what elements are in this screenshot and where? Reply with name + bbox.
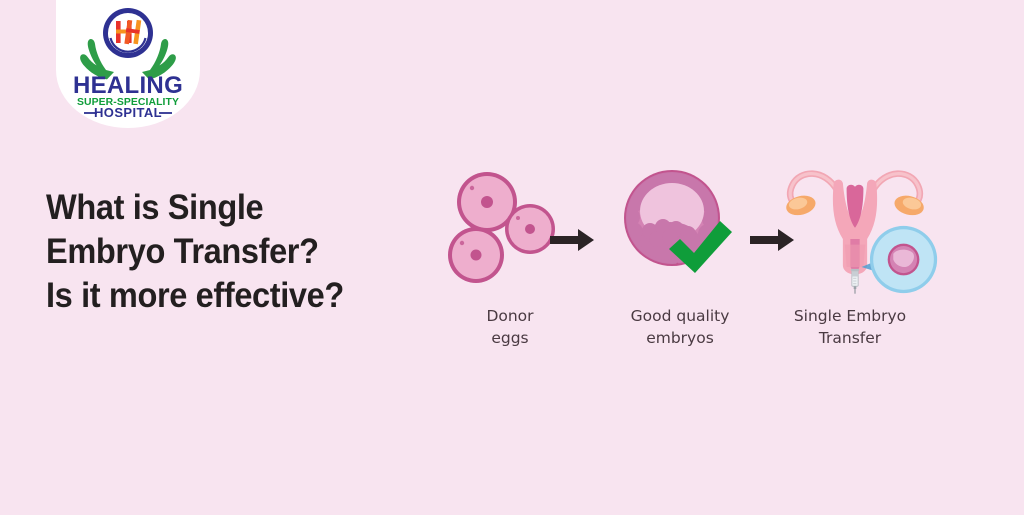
caption-line-2: embryos (600, 327, 760, 349)
process-illustration: Donor eggs (420, 155, 980, 365)
banner-root: HEALING SUPER-SPECIALITY HOSPITAL What i… (0, 0, 1024, 515)
caption-line-1: Single Embryo (770, 305, 930, 327)
headline-line-2: Embryo Transfer? (46, 230, 418, 274)
syringe-icon (851, 269, 859, 294)
stage-good-quality-embryos: Good quality embryos (600, 155, 760, 365)
uterus-syringe-icon (770, 155, 940, 295)
caption-line-2: Transfer (770, 327, 930, 349)
hospital-logo: HEALING SUPER-SPECIALITY HOSPITAL (56, 0, 200, 118)
logo-title: HEALING (73, 72, 183, 99)
caption-line-2: eggs (430, 327, 590, 349)
stage-donor-eggs: Donor eggs (430, 155, 590, 365)
caption-good-quality-embryos: Good quality embryos (600, 305, 760, 349)
arrow-right-icon (548, 223, 596, 257)
caption-single-embryo-transfer: Single Embryo Transfer (770, 305, 930, 349)
blastocyst-check-icon (600, 155, 760, 295)
logo-tag-background: HEALING SUPER-SPECIALITY HOSPITAL (56, 0, 200, 128)
hh-monogram-icon (103, 8, 153, 58)
page-title: What is Single Embryo Transfer? Is it mo… (46, 186, 446, 318)
caption-donor-eggs: Donor eggs (430, 305, 590, 349)
headline-line-3: Is it more effective? (46, 274, 418, 318)
caption-line-1: Donor (430, 305, 590, 327)
stage-single-embryo-transfer: Single Embryo Transfer (770, 155, 930, 365)
logo-tagline: HOSPITAL (94, 105, 162, 118)
caption-line-1: Good quality (600, 305, 760, 327)
logo-graphic: HEALING SUPER-SPECIALITY HOSPITAL (56, 0, 200, 118)
headline-line-1: What is Single (46, 186, 418, 230)
